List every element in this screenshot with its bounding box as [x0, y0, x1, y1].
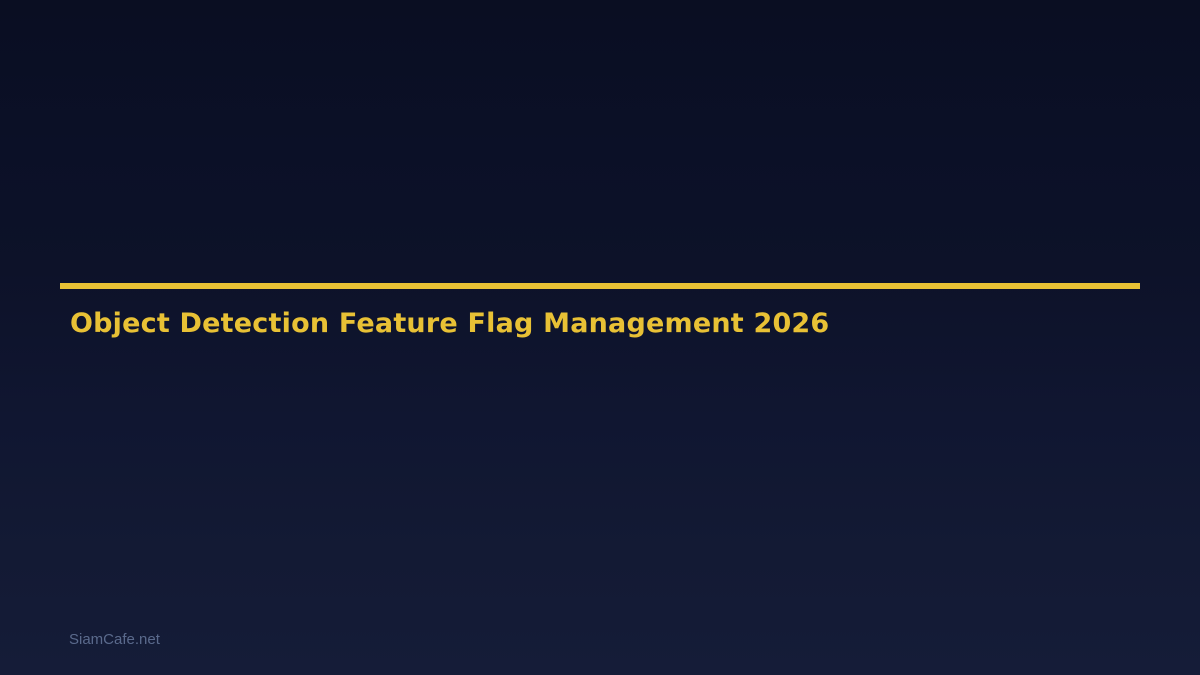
footer-brand-label: SiamCafe.net — [69, 630, 160, 650]
slide-canvas: Object Detection Feature Flag Management… — [0, 0, 1200, 675]
slide-content-region — [70, 360, 1140, 610]
title-accent-bar — [60, 283, 1140, 289]
page-title: Object Detection Feature Flag Management… — [70, 305, 829, 343]
